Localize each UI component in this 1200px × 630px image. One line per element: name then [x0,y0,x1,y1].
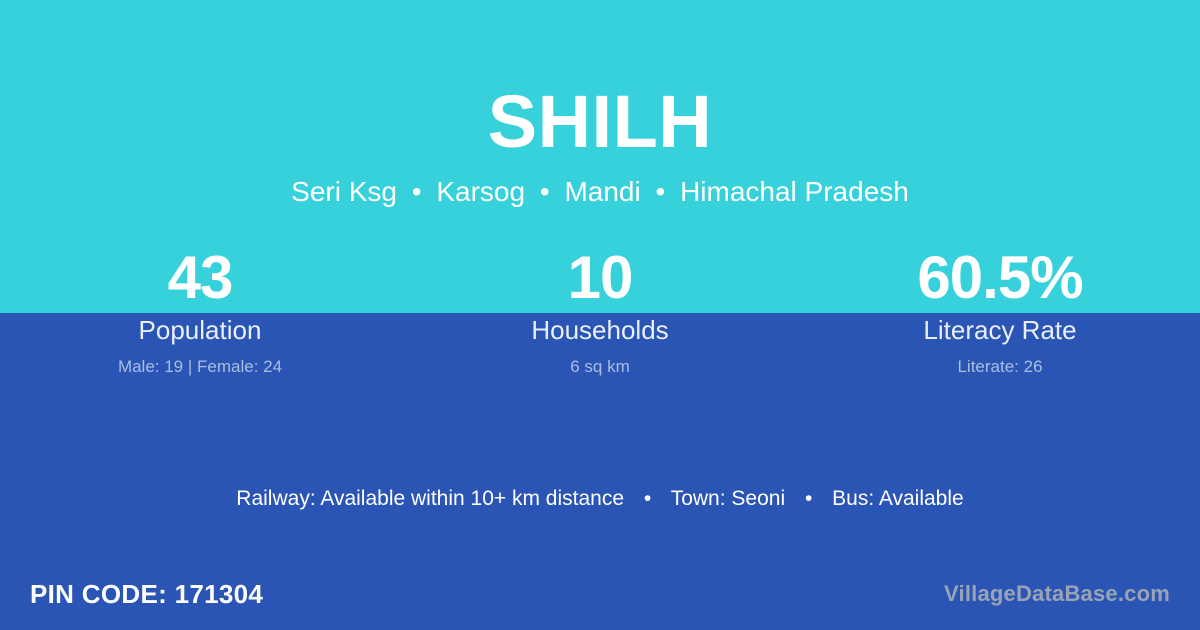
stat-label-households: Households [400,313,800,345]
breadcrumb-separator: • [405,176,429,207]
brand-watermark: VillageDataBase.com [944,581,1170,607]
breadcrumb: Seri Ksg • Karsog • Mandi • Himachal Pra… [0,159,1200,208]
stat-sub-literacy-rate: Literate: 26 [800,345,1200,378]
stat-value-literacy-rate: 60.5% [800,243,1200,313]
breadcrumb-separator: • [533,176,557,207]
facility-separator: • [791,487,826,510]
stat-label-population: Population [0,313,400,345]
facility-town: Town: Seoni [671,487,785,510]
stats-row: 43 Population Male: 19 | Female: 24 10 H… [0,243,1200,378]
stat-value-population: 43 [0,243,400,313]
stat-value-households: 10 [400,243,800,313]
card-footer: PIN CODE: 171304 VillageDataBase.com [0,558,1200,630]
breadcrumb-separator: • [648,176,672,207]
stat-sub-population: Male: 19 | Female: 24 [0,345,400,378]
breadcrumb-item-subdistrict: Seri Ksg [291,176,397,207]
breadcrumb-item-district: Mandi [564,176,640,207]
village-info-card: SHILH Seri Ksg • Karsog • Mandi • Himach… [0,0,1200,630]
facility-separator: • [630,487,665,510]
facility-bus: Bus: Available [832,487,964,510]
pin-code: PIN CODE: 171304 [30,579,263,610]
facility-railway: Railway: Available within 10+ km distanc… [236,487,624,510]
stat-households: 10 Households 6 sq km [400,243,800,378]
breadcrumb-item-state: Himachal Pradesh [680,176,909,207]
stat-population: 43 Population Male: 19 | Female: 24 [0,243,400,378]
card-header: SHILH Seri Ksg • Karsog • Mandi • Himach… [0,0,1200,208]
stat-label-literacy-rate: Literacy Rate [800,313,1200,345]
facilities-line: Railway: Available within 10+ km distanc… [0,484,1200,514]
stat-literacy-rate: 60.5% Literacy Rate Literate: 26 [800,243,1200,378]
page-title: SHILH [0,0,1200,159]
breadcrumb-item-block: Karsog [436,176,525,207]
stat-sub-households: 6 sq km [400,345,800,378]
